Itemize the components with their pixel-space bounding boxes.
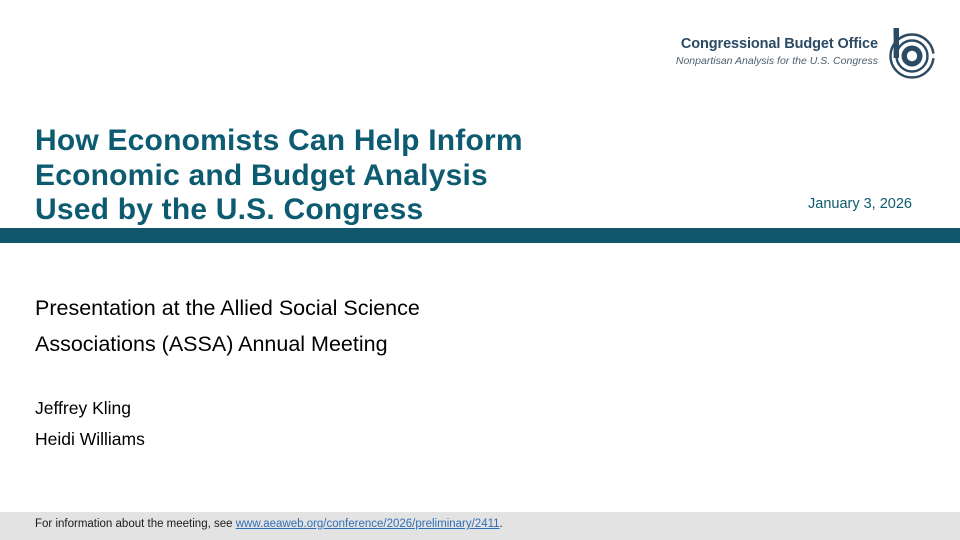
slide-title-line-1: How Economists Can Help Inform <box>35 124 695 159</box>
cbo-logo-text: Congressional Budget Office Nonpartisan … <box>676 37 878 66</box>
author-name-1: Jeffrey Kling <box>35 393 535 424</box>
cbo-logo-title: Congressional Budget Office <box>676 37 878 52</box>
footer-bar: For information about the meeting, see w… <box>0 512 960 540</box>
presentation-date: January 3, 2026 <box>808 196 912 212</box>
cbo-b-logomark-icon <box>884 25 938 79</box>
slide-title-line-3: Used by the U.S. Congress <box>35 193 695 228</box>
footer-note-suffix: . <box>500 518 503 530</box>
author-list: Jeffrey Kling Heidi Williams <box>35 393 535 455</box>
presentation-venue-line-1: Presentation at the Allied Social Scienc… <box>35 290 735 326</box>
footer-note: For information about the meeting, see w… <box>35 518 503 530</box>
meeting-info-link[interactable]: www.aeaweb.org/conference/2026/prelimina… <box>236 518 500 530</box>
slide-canvas: Congressional Budget Office Nonpartisan … <box>0 0 960 540</box>
slide-title-line-2: Economic and Budget Analysis <box>35 159 695 194</box>
cbo-logo-tagline: Nonpartisan Analysis for the U.S. Congre… <box>676 56 878 67</box>
title-divider-rule <box>0 228 960 243</box>
author-name-2: Heidi Williams <box>35 424 535 455</box>
presentation-venue: Presentation at the Allied Social Scienc… <box>35 290 735 362</box>
footer-note-prefix: For information about the meeting, see <box>35 518 236 530</box>
presentation-venue-line-2: Associations (ASSA) Annual Meeting <box>35 326 735 362</box>
slide-title: How Economists Can Help Inform Economic … <box>35 124 695 228</box>
cbo-logo: Congressional Budget Office Nonpartisan … <box>676 25 938 79</box>
